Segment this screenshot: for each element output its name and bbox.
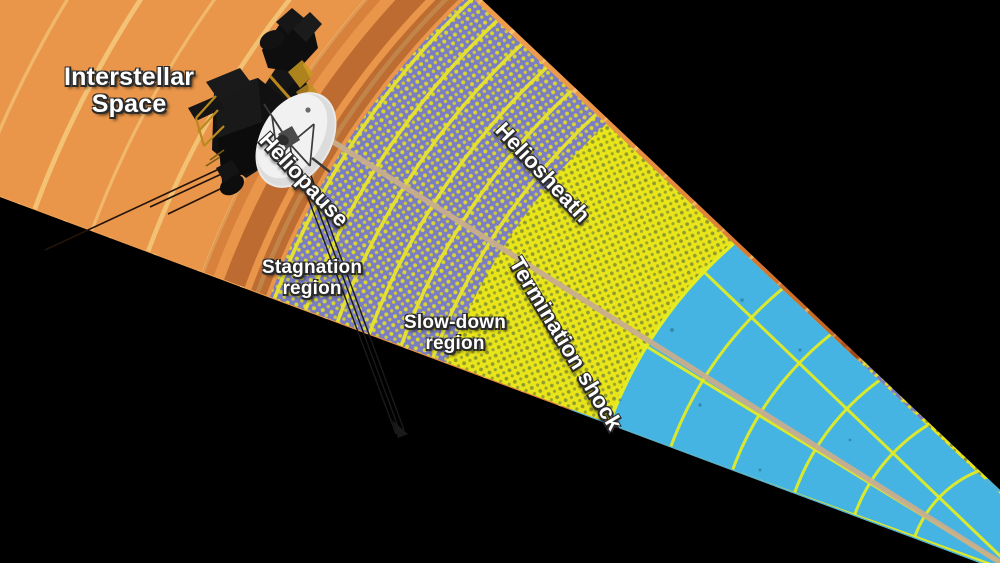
diagram-canvas xyxy=(0,0,1000,563)
heliosphere-diagram: Interstellar Space Heliopause Heliosheat… xyxy=(0,0,1000,563)
